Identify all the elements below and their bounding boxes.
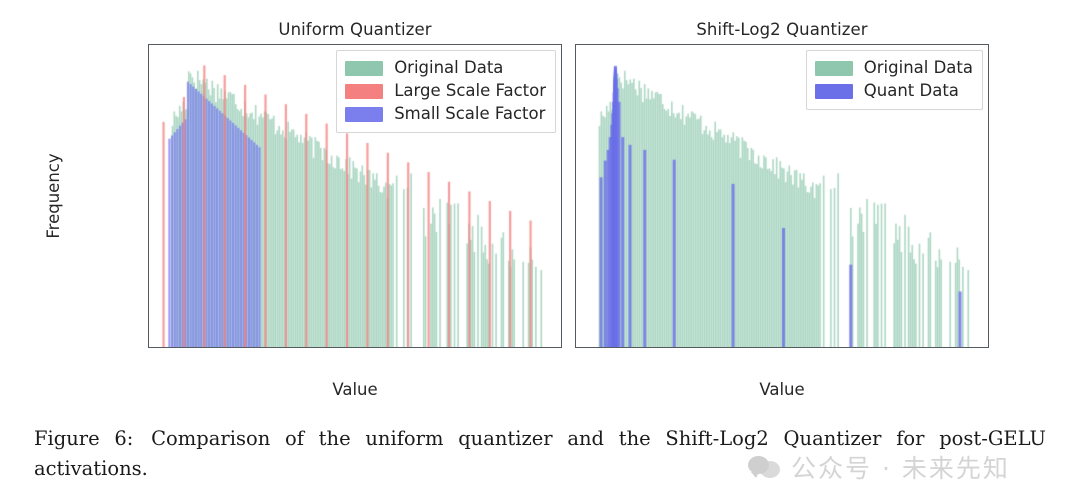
y-tick-minor — [575, 134, 576, 135]
y-tick-minor — [148, 242, 149, 243]
y-tick-minor — [148, 85, 149, 86]
legend-right: Original DataQuant Data — [806, 50, 983, 110]
y-tick-minor — [575, 307, 576, 308]
y-tick-minor — [148, 166, 149, 167]
y-tick-minor — [148, 302, 149, 303]
legend-label: Original Data — [864, 60, 973, 77]
y-tick-minor — [575, 92, 576, 93]
y-tick-minor — [148, 184, 149, 185]
figure-post-gelu-quantizer-comparison: Uniform Quantizer01234100101102103104105… — [0, 0, 1080, 501]
legend-item: Quant Data — [815, 80, 973, 103]
y-tick-minor — [575, 193, 576, 194]
y-tick-minor — [575, 314, 576, 315]
x-tick — [271, 347, 272, 348]
figure-caption-text: Comparison of the uniform quantizer and … — [34, 427, 1046, 480]
x-axis-label-left: Value — [148, 380, 562, 399]
y-tick-minor — [575, 187, 576, 188]
x-tick — [614, 347, 615, 348]
legend-swatch-1 — [815, 84, 853, 99]
y-tick — [575, 129, 576, 130]
y-tick-minor — [148, 298, 149, 299]
y-tick — [148, 129, 149, 130]
y-tick-minor — [148, 156, 149, 157]
y-tick-minor — [575, 209, 576, 210]
plot-area-right: 01234Original DataQuant Data — [575, 44, 989, 348]
y-tick-minor — [148, 218, 149, 219]
panel-title-right: Shift-Log2 Quantizer — [575, 20, 989, 39]
y-tick-minor — [575, 88, 576, 89]
legend-swatch-1 — [345, 84, 383, 99]
y-tick-minor — [148, 236, 149, 237]
y-tick-minor — [575, 302, 576, 303]
y-tick — [575, 286, 576, 287]
y-tick-minor — [575, 218, 576, 219]
y-tick-minor — [575, 250, 576, 251]
y-tick-minor — [575, 104, 576, 105]
y-tick-minor — [575, 166, 576, 167]
y-tick-minor — [148, 255, 149, 256]
y-tick-minor — [148, 307, 149, 308]
y-tick-minor — [575, 184, 576, 185]
y-tick — [575, 77, 576, 78]
y-tick-minor — [575, 150, 576, 151]
legend-label: Quant Data — [864, 83, 959, 100]
y-tick-minor — [148, 88, 149, 89]
y-tick-minor — [148, 239, 149, 240]
legend-left: Original DataLarge Scale FactorSmall Sca… — [336, 50, 556, 133]
legend-label: Large Scale Factor — [394, 83, 546, 100]
y-tick — [575, 181, 576, 182]
y-tick-minor — [575, 246, 576, 247]
y-tick-minor — [575, 141, 576, 142]
y-tick-minor — [148, 246, 149, 247]
x-axis-label-right: Value — [575, 380, 989, 399]
y-tick-minor — [148, 104, 149, 105]
y-tick-minor — [575, 261, 576, 262]
y-tick-minor — [148, 187, 149, 188]
x-tick — [439, 347, 440, 348]
figure-number: Figure 6: — [34, 427, 133, 450]
y-tick-minor — [148, 52, 149, 53]
y-tick-minor — [575, 137, 576, 138]
legend-item: Original Data — [345, 57, 546, 80]
y-tick-minor — [148, 314, 149, 315]
y-tick-minor — [148, 250, 149, 251]
y-tick-minor — [148, 92, 149, 93]
y-tick-minor — [148, 137, 149, 138]
y-tick-minor — [575, 323, 576, 324]
y-tick-minor — [148, 141, 149, 142]
y-tick-minor — [575, 236, 576, 237]
y-tick — [148, 234, 149, 235]
y-tick-minor — [575, 291, 576, 292]
y-tick-minor — [148, 79, 149, 80]
y-tick-minor — [148, 145, 149, 146]
x-tick — [523, 347, 524, 348]
y-tick-minor — [148, 45, 149, 46]
legend-swatch-0 — [815, 61, 853, 76]
y-tick-minor — [575, 197, 576, 198]
legend-item: Small Scale Factor — [345, 103, 546, 126]
y-tick-minor — [148, 113, 149, 114]
legend-item: Large Scale Factor — [345, 80, 546, 103]
x-tick — [187, 347, 188, 348]
y-tick-minor — [148, 134, 149, 135]
x-tick — [866, 347, 867, 348]
x-tick — [698, 347, 699, 348]
y-tick-minor — [148, 193, 149, 194]
y-tick-minor — [575, 131, 576, 132]
y-tick-minor — [148, 82, 149, 83]
y-tick — [575, 234, 576, 235]
y-tick-minor — [148, 291, 149, 292]
y-tick-minor — [148, 323, 149, 324]
y-tick-minor — [575, 271, 576, 272]
y-tick — [575, 339, 576, 340]
y-tick-minor — [575, 79, 576, 80]
legend-label: Small Scale Factor — [394, 106, 545, 123]
y-axis-label-left: Frequency — [44, 153, 63, 238]
x-tick — [782, 347, 783, 348]
legend-label: Original Data — [394, 60, 503, 77]
legend-swatch-2 — [345, 107, 383, 122]
legend-swatch-0 — [345, 61, 383, 76]
y-tick-minor — [575, 239, 576, 240]
y-tick-minor — [575, 113, 576, 114]
x-tick — [355, 347, 356, 348]
chart-panel-left: Uniform Quantizer01234100101102103104105… — [148, 0, 562, 408]
y-tick-minor — [575, 97, 576, 98]
y-tick-minor — [148, 202, 149, 203]
y-tick-minor — [148, 295, 149, 296]
y-tick-minor — [575, 85, 576, 86]
figure-caption: Figure 6: Comparison of the uniform quan… — [34, 424, 1046, 484]
legend-item: Original Data — [815, 57, 973, 80]
y-tick-minor — [575, 156, 576, 157]
y-tick — [148, 286, 149, 287]
y-tick — [148, 339, 149, 340]
y-tick-minor — [575, 295, 576, 296]
y-tick-minor — [148, 209, 149, 210]
y-tick-minor — [148, 197, 149, 198]
y-tick-minor — [575, 61, 576, 62]
y-tick-minor — [575, 190, 576, 191]
y-tick-minor — [575, 45, 576, 46]
y-tick-minor — [575, 242, 576, 243]
y-tick-minor — [575, 298, 576, 299]
y-tick-minor — [148, 271, 149, 272]
chart-panel-right: Shift-Log2 Quantizer01234Original DataQu… — [575, 0, 989, 408]
y-tick-minor — [148, 97, 149, 98]
y-tick — [148, 181, 149, 182]
y-tick-minor — [148, 289, 149, 290]
x-tick — [950, 347, 951, 348]
y-tick-minor — [148, 190, 149, 191]
y-tick-minor — [575, 202, 576, 203]
panel-title-left: Uniform Quantizer — [148, 20, 562, 39]
y-tick-minor — [575, 289, 576, 290]
y-tick — [148, 77, 149, 78]
y-tick-minor — [148, 150, 149, 151]
y-tick-minor — [148, 131, 149, 132]
plot-area-left: 01234100101102103104105Original DataLarg… — [148, 44, 562, 348]
y-tick-minor — [575, 145, 576, 146]
y-tick-minor — [575, 82, 576, 83]
y-tick-minor — [148, 61, 149, 62]
y-tick-minor — [575, 52, 576, 53]
y-tick-minor — [575, 255, 576, 256]
y-tick-minor — [148, 261, 149, 262]
